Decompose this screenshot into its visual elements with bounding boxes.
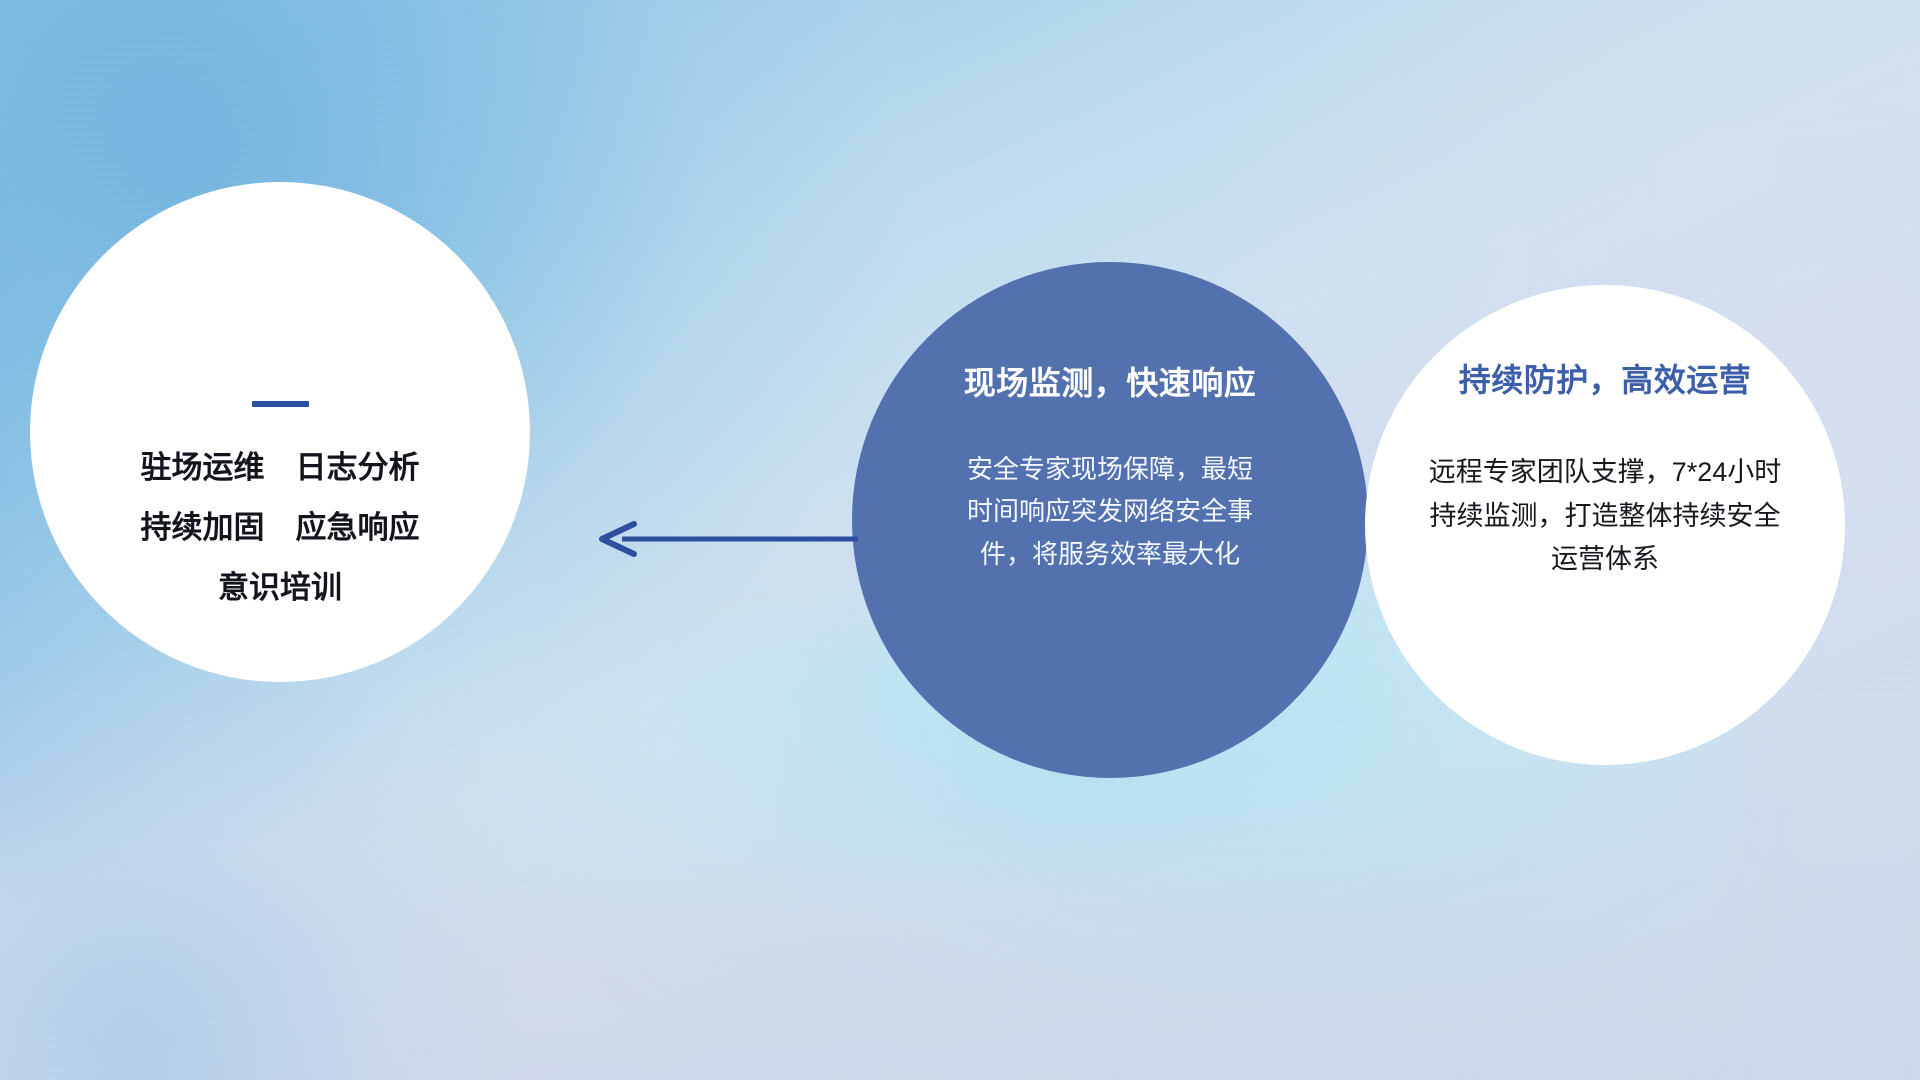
onsite-monitoring-title: 现场监测，快速响应 <box>964 358 1257 404</box>
onsite-monitoring-circle[interactable]: 现场监测，快速响应 安全专家现场保障，最短时间响应突发网络安全事件，将服务效率最… <box>852 262 1368 778</box>
capability-line: 意识培训 <box>30 572 530 603</box>
left-pointing-arrow-icon <box>596 512 862 566</box>
onsite-monitoring-description: 安全专家现场保障，最短时间响应突发网络安全事件，将服务效率最大化 <box>960 448 1260 575</box>
continuous-protection-description: 远程专家团队支撑，7*24小时持续监测，打造整体持续安全运营体系 <box>1420 451 1790 582</box>
slide-canvas: 驻场运维 日志分析 持续加固 应急响应 意识培训 现场监测，快速响应 安全专家现… <box>0 0 1920 1080</box>
continuous-protection-title: 持续防护，高效运营 <box>1459 355 1752 401</box>
accent-dash-icon <box>252 401 309 407</box>
capability-keyword-list: 驻场运维 日志分析 持续加固 应急响应 意识培训 <box>30 452 530 603</box>
continuous-protection-circle[interactable]: 持续防护，高效运营 远程专家团队支撑，7*24小时持续监测，打造整体持续安全运营… <box>1365 285 1845 765</box>
capabilities-circle[interactable]: 驻场运维 日志分析 持续加固 应急响应 意识培训 <box>30 182 530 682</box>
capability-line: 驻场运维 日志分析 <box>30 452 530 483</box>
capability-line: 持续加固 应急响应 <box>30 512 530 543</box>
